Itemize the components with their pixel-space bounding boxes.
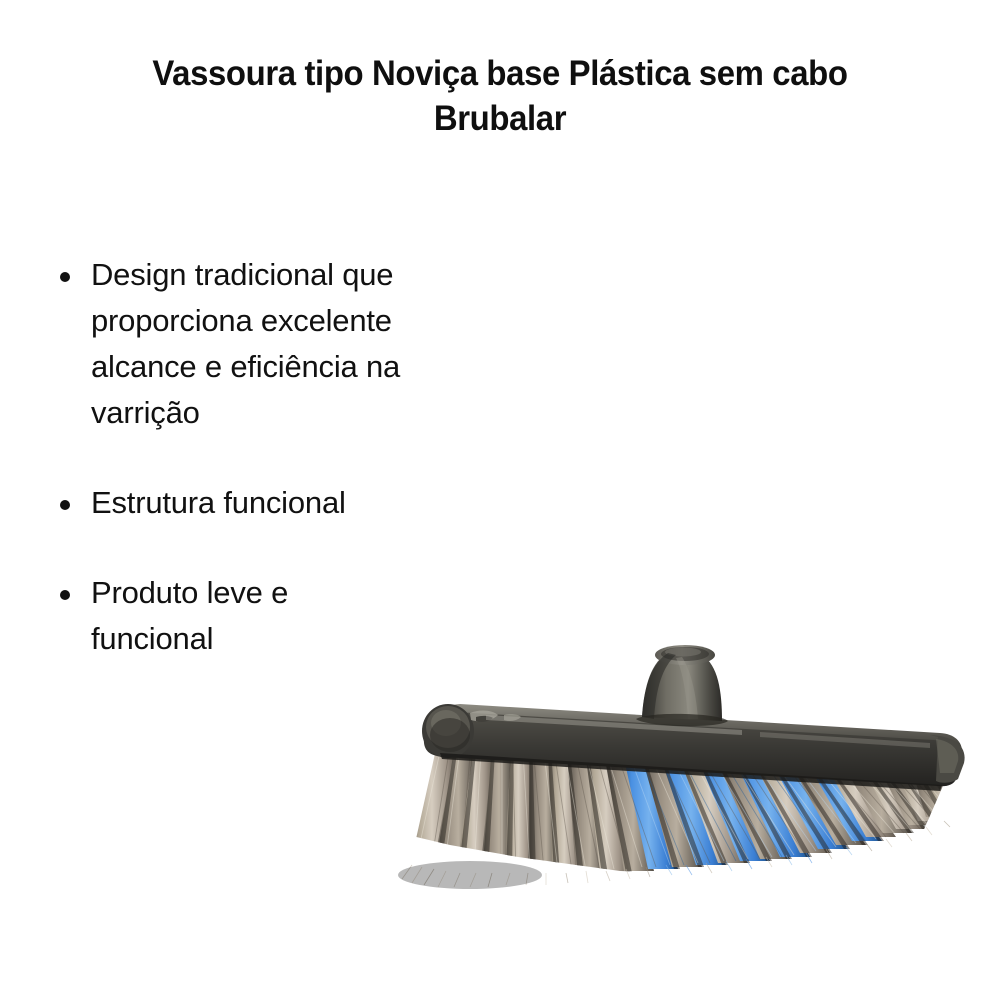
feature-list-item: Estrutura funcional [48, 480, 418, 526]
handle-socket [636, 645, 728, 726]
page-title: Vassoura tipo Noviça base Plástica sem c… [115, 51, 886, 141]
bullet-point-icon [60, 500, 70, 510]
feature-list-item-label: Design tradicional que proporciona excel… [91, 257, 400, 430]
product-image-broom [290, 535, 980, 935]
page-title-line-2: Brubalar [434, 99, 566, 138]
bullet-point-icon [60, 272, 70, 282]
page-title-line-1: Vassoura tipo Noviça base Plástica sem c… [152, 54, 847, 93]
broom-illustration [290, 535, 980, 935]
feature-list-item-label: Estrutura funcional [91, 485, 346, 520]
product-infographic-page: Vassoura tipo Noviça base Plástica sem c… [0, 0, 1000, 1000]
feature-list-item: Design tradicional que proporciona excel… [48, 252, 418, 436]
feature-list-item-label: Produto leve e funcional [91, 575, 288, 656]
bristle-tip-haze [398, 861, 542, 889]
bullet-point-icon [60, 590, 70, 600]
